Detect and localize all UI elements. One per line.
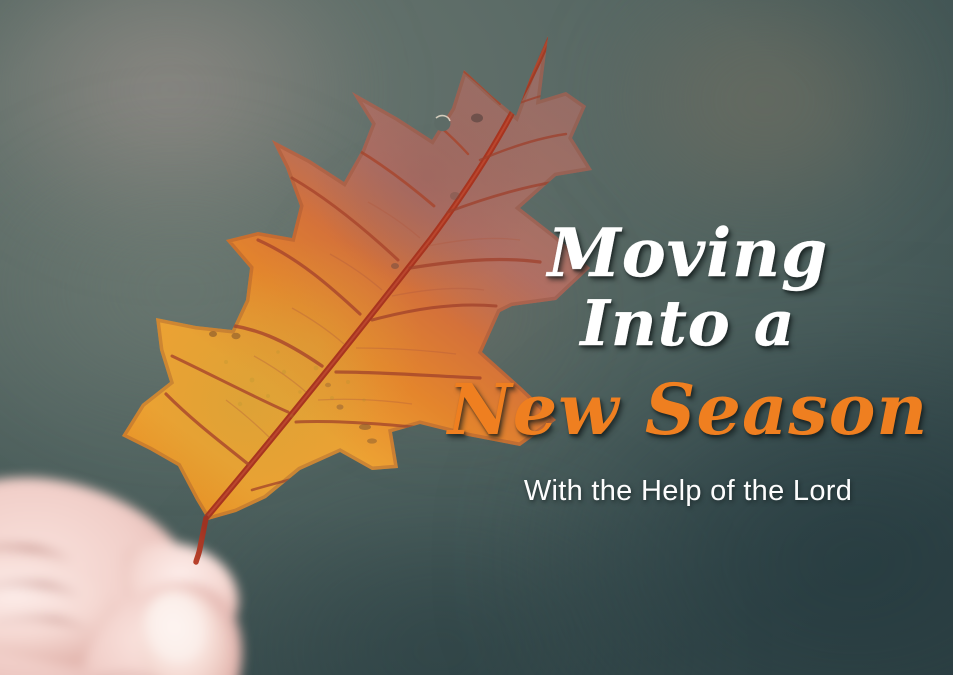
banner-canvas: Moving Into a New Season With the Help o… xyxy=(0,0,953,675)
title-line-1: Moving xyxy=(438,222,938,285)
title-line-2: Into a xyxy=(438,285,938,362)
subtitle: With the Help of the Lord xyxy=(438,475,938,508)
accent-headline: New Season xyxy=(438,362,938,459)
text-overlay: Moving Into a New Season With the Help o… xyxy=(438,222,938,508)
leaf-stem xyxy=(196,518,206,562)
